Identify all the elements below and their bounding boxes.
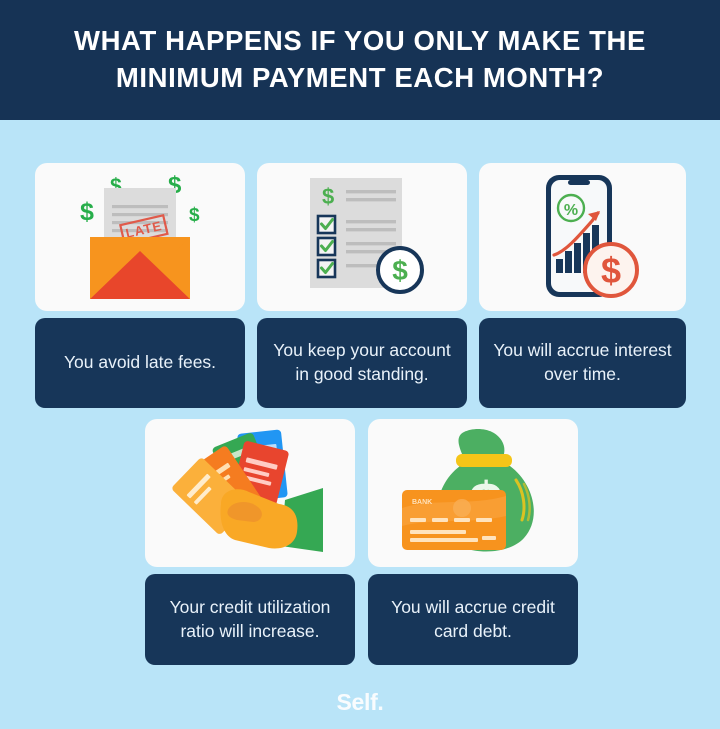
hand-holding-credit-cards-icon [163, 426, 338, 561]
card-label-avoid-late-fees: You avoid late fees. [35, 318, 245, 408]
svg-text:$: $ [322, 184, 334, 209]
money-bag-with-credit-card-icon: $ BANK [388, 426, 558, 561]
card-media-avoid-late-fees: $ $ $ $ LATE [35, 163, 245, 311]
envelope-with-late-letter-icon: $ $ $ $ LATE [60, 171, 220, 303]
checklist-document-with-dollar-coin-icon: $ [292, 172, 432, 302]
card-media-credit-card-debt: $ BANK [368, 419, 578, 567]
card-media-accrue-interest: % $ [479, 163, 686, 311]
card-label-credit-card-debt: You will accrue credit card debt. [368, 574, 578, 665]
page-title: WHAT HAPPENS IF YOU ONLY MAKE THE MINIMU… [40, 23, 680, 96]
svg-text:$: $ [600, 250, 620, 291]
card-good-standing: $ [257, 163, 467, 408]
card-media-credit-utilization [145, 419, 355, 567]
infographic-canvas: WHAT HAPPENS IF YOU ONLY MAKE THE MINIMU… [0, 0, 720, 729]
card-credit-card-debt: $ BANK You will accrue credit card debt. [368, 419, 578, 665]
card-label-credit-utilization: Your credit utilization ratio will incre… [145, 574, 355, 665]
card-media-good-standing: $ [257, 163, 467, 311]
svg-text:$: $ [80, 198, 94, 226]
footer: Self. [0, 676, 720, 729]
card-label-accrue-interest: You will accrue interest over time. [479, 318, 686, 408]
self-logo[interactable]: Self. [336, 689, 383, 716]
card-credit-utilization: Your credit utilization ratio will incre… [145, 419, 355, 665]
card-label-good-standing: You keep your account in good standing. [257, 318, 467, 408]
card-avoid-late-fees: $ $ $ $ LATE [35, 163, 245, 408]
header-band: WHAT HAPPENS IF YOU ONLY MAKE THE MINIMU… [0, 0, 720, 120]
card-accrue-interest: % $ You will accrue interest over time. [479, 163, 686, 408]
svg-text:$: $ [189, 205, 200, 226]
smartphone-rising-chart-with-percent-and-dollar-coin-icon: % $ [518, 171, 648, 303]
svg-text:$: $ [392, 255, 408, 286]
svg-text:BANK: BANK [412, 499, 432, 506]
svg-text:%: % [563, 202, 577, 219]
